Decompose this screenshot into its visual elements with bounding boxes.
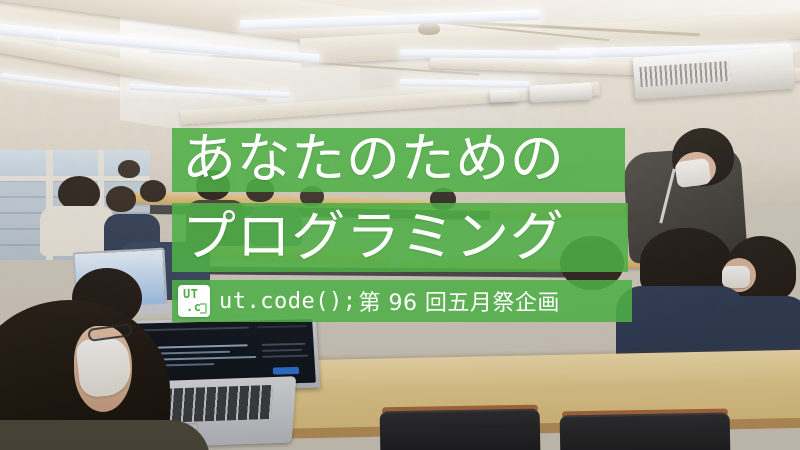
utcode-logo: UT .c <box>178 285 210 317</box>
chair <box>560 413 731 450</box>
title-line2-text: プログラミング <box>172 210 565 264</box>
chair <box>380 409 541 450</box>
air-conditioner-unit <box>530 82 593 102</box>
air-conditioner-unit <box>490 89 520 102</box>
face-mask <box>674 158 711 188</box>
foreground-person-shoulder <box>0 420 210 450</box>
subtitle-band: UT .c ut.code(); 第 96 回五月祭企画 <box>172 280 632 322</box>
student-head <box>140 180 166 202</box>
title-band-line2: プログラミング <box>172 203 628 272</box>
face-mask <box>722 266 750 288</box>
subtitle-text: ut.code(); 第 96 回五月祭企画 <box>219 285 560 317</box>
logo-top-text: UT <box>183 287 198 301</box>
student-head <box>106 186 136 212</box>
subtitle-mono-text: ut.code(); <box>219 289 356 314</box>
fluorescent-light <box>400 49 590 59</box>
logo-bracket-icon <box>200 303 207 314</box>
student-head <box>118 160 140 178</box>
student-head <box>58 176 100 210</box>
subtitle-jp-text: 第 96 回五月祭企画 <box>358 285 559 317</box>
title-band-line1: あなたのための <box>172 128 625 192</box>
title-line1-text: あなたのための <box>172 132 565 186</box>
slide-canvas: あなたのための プログラミング UT .c ut.code(); 第 96 回五… <box>0 0 800 450</box>
student-body <box>40 206 114 256</box>
ceiling-dome-fixture <box>418 22 440 35</box>
